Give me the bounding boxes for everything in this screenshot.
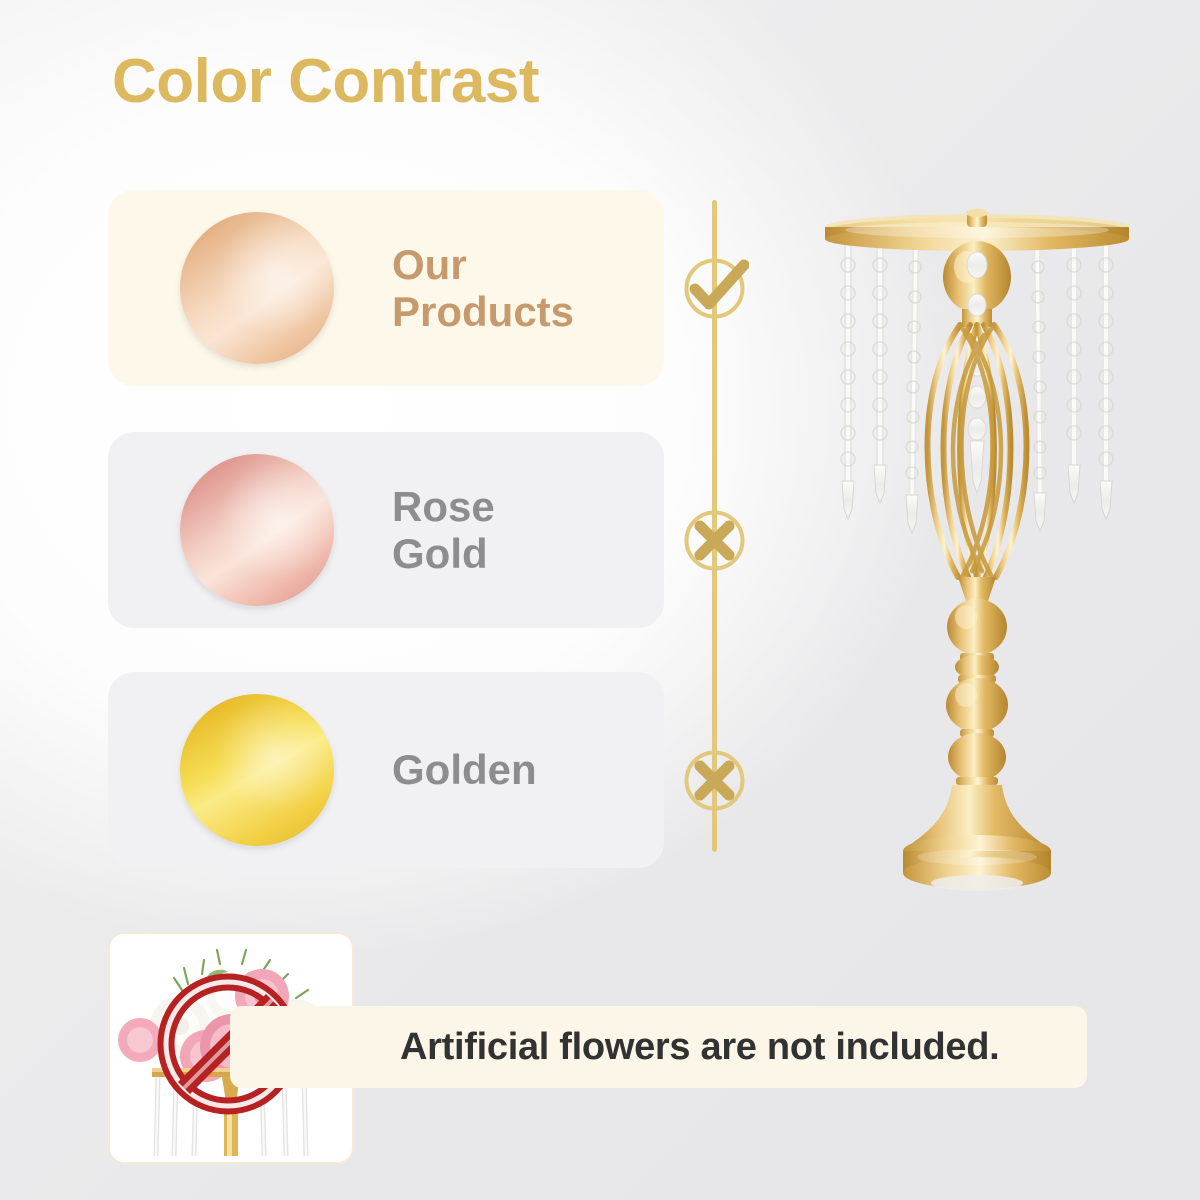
golden-swatch xyxy=(180,694,334,846)
page-title: Color Contrast xyxy=(112,46,539,117)
infographic-canvas: Color Contrast Our Products Rose Gold Go… xyxy=(0,0,1200,1200)
verdict-marker-rose-gold xyxy=(680,506,749,575)
rose-gold-swatch xyxy=(180,454,334,606)
comparison-card-label: Our Products xyxy=(392,241,574,335)
comparison-card-label: Rose Gold xyxy=(392,483,495,577)
gold-crystal-centerpiece-stand xyxy=(812,205,1142,905)
comparison-card-golden: Golden xyxy=(108,672,664,868)
verdict-marker-golden xyxy=(680,746,749,815)
comparison-card-our-products: Our Products xyxy=(108,190,664,386)
comparison-card-label: Golden xyxy=(392,746,537,793)
disclaimer-banner: Artificial flowers are not included. xyxy=(230,1006,1087,1088)
our-products-swatch xyxy=(180,212,334,364)
comparison-card-rose-gold: Rose Gold xyxy=(108,432,664,628)
verdict-marker-our-products xyxy=(680,254,749,323)
disclaimer-text: Artificial flowers are not included. xyxy=(400,1026,999,1069)
